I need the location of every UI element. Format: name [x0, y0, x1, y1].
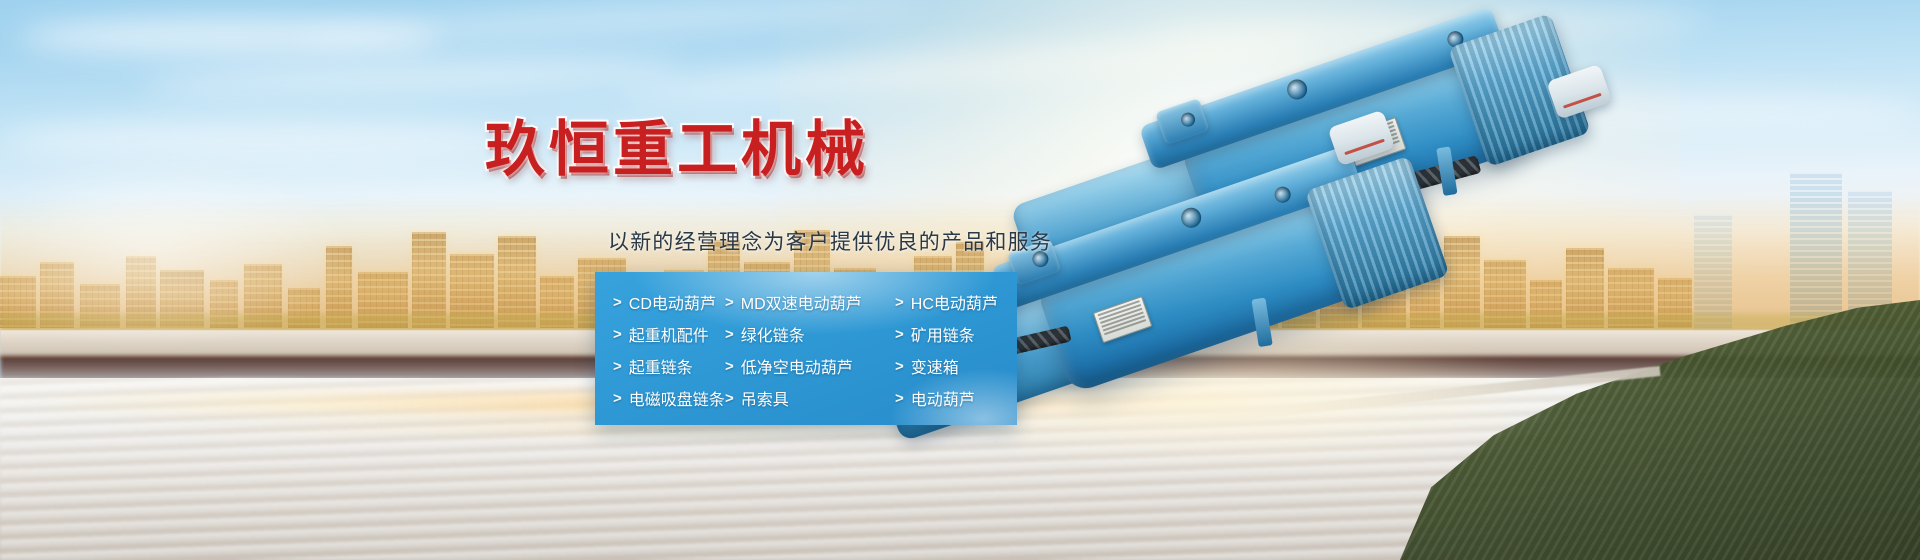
product-label: HC电动葫芦 [911, 290, 998, 314]
chevron-right-icon: > [725, 327, 734, 342]
chevron-right-icon: > [613, 295, 622, 310]
product-link-md-dual-speed-hoist[interactable]: > MD双速电动葫芦 [725, 290, 865, 314]
chevron-right-icon: > [895, 359, 904, 374]
product-label: 绿化链条 [741, 322, 805, 346]
product-link-cd-hoist[interactable]: > CD电动葫芦 [613, 290, 725, 314]
product-link-slings[interactable]: > 吊索具 [725, 386, 865, 410]
cloud [140, 53, 681, 102]
product-link-low-headroom-hoist[interactable]: > 低净空电动葫芦 [725, 354, 865, 378]
product-label: 吊索具 [741, 386, 789, 410]
product-link-electric-hoist[interactable]: > 电动葫芦 [865, 386, 1017, 410]
chevron-right-icon: > [725, 295, 734, 310]
chevron-right-icon: > [895, 327, 904, 342]
product-label: CD电动葫芦 [629, 290, 716, 314]
product-label: 低净空电动葫芦 [741, 354, 853, 378]
product-list-panel: > CD电动葫芦 > MD双速电动葫芦 > HC电动葫芦 > 起重机配件 > 绿… [595, 272, 1017, 425]
page-title: 玖恒重工机械 [485, 118, 869, 181]
product-link-crane-parts[interactable]: > 起重机配件 [613, 322, 725, 346]
chevron-right-icon: > [725, 391, 734, 406]
product-link-mining-chain[interactable]: > 矿用链条 [865, 322, 1017, 346]
chevron-right-icon: > [895, 295, 904, 310]
product-link-magnetic-chuck-chain[interactable]: > 电磁吸盘链条 [613, 386, 725, 410]
product-label: 矿用链条 [911, 322, 975, 346]
lens-flare [0, 150, 360, 350]
chevron-right-icon: > [613, 391, 622, 406]
product-link-lifting-chain[interactable]: > 起重链条 [613, 354, 725, 378]
page-subtitle: 以新的经营理念为客户提供优良的产品和服务 [608, 226, 1052, 256]
chevron-right-icon: > [613, 359, 622, 374]
hero-banner: 玖恒重工机械 以新的经营理念为客户提供优良的产品和服务 > CD电动葫芦 > M… [0, 0, 1920, 560]
chevron-right-icon: > [725, 359, 734, 374]
chevron-right-icon: > [613, 327, 622, 342]
product-link-gearbox[interactable]: > 变速箱 [865, 354, 1017, 378]
product-label: 起重机配件 [629, 322, 709, 346]
product-list-grid: > CD电动葫芦 > MD双速电动葫芦 > HC电动葫芦 > 起重机配件 > 绿… [595, 272, 1017, 425]
product-label: MD双速电动葫芦 [741, 290, 862, 314]
product-label: 电磁吸盘链条 [629, 386, 725, 410]
product-label: 变速箱 [911, 354, 959, 378]
product-link-hc-hoist[interactable]: > HC电动葫芦 [865, 290, 1017, 314]
product-label: 起重链条 [629, 354, 693, 378]
chevron-right-icon: > [895, 391, 904, 406]
product-label: 电动葫芦 [911, 386, 975, 410]
product-link-landscaping-chain[interactable]: > 绿化链条 [725, 322, 865, 346]
